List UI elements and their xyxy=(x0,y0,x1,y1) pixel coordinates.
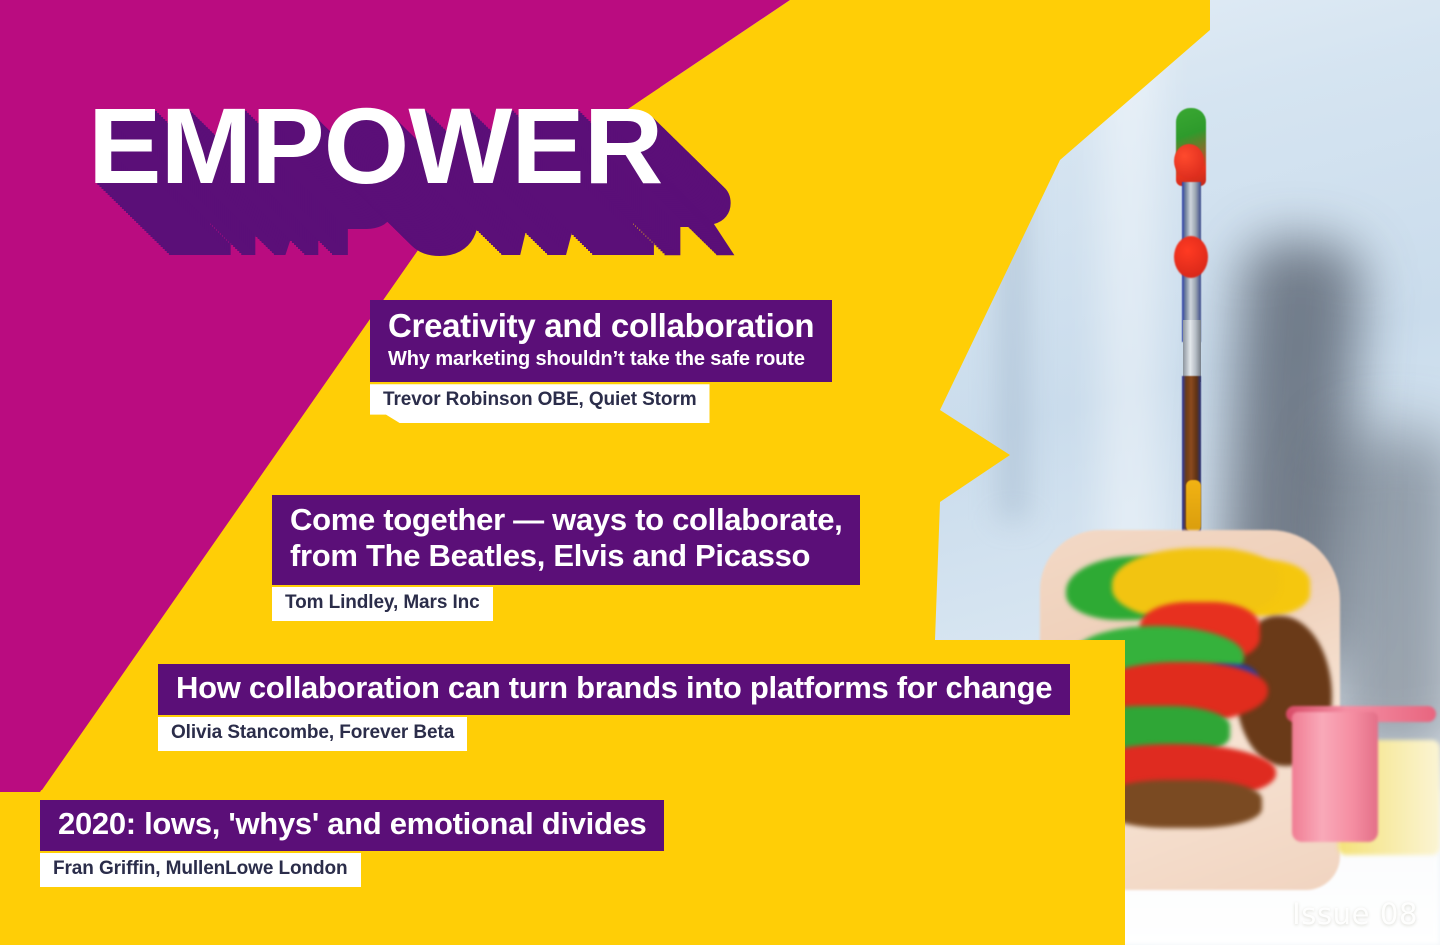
masthead: EMPOWER xyxy=(88,92,651,200)
article-block-2[interactable]: Come together — ways to collaborate, fro… xyxy=(272,495,860,621)
article-4-title: 2020: lows, 'whys' and emotional divides xyxy=(58,806,646,842)
article-3-headline-bar: How collaboration can turn brands into p… xyxy=(158,664,1070,715)
article-block-4[interactable]: 2020: lows, 'whys' and emotional divides… xyxy=(40,800,664,887)
magazine-cover: EMPOWER Creativity and collaboration Why… xyxy=(0,0,1440,945)
article-1-headline-bar: Creativity and collaboration Why marketi… xyxy=(370,300,832,382)
paint-pot-pink xyxy=(1292,712,1378,842)
article-4-headline-bar: 2020: lows, 'whys' and emotional divides xyxy=(40,800,664,851)
article-2-title-line2: from The Beatles, Elvis and Picasso xyxy=(290,538,842,574)
article-1-title: Creativity and collaboration xyxy=(388,307,814,345)
page-title: EMPOWER xyxy=(88,92,662,200)
article-3-byline: Olivia Stancombe, Forever Beta xyxy=(158,717,467,751)
article-block-3[interactable]: How collaboration can turn brands into p… xyxy=(158,664,1070,751)
article-2-headline-bar: Come together — ways to collaborate, fro… xyxy=(272,495,860,585)
issue-number: Issue 08 xyxy=(1292,897,1418,931)
paint-brush-upright-icon xyxy=(1168,108,1214,578)
article-block-1[interactable]: Creativity and collaboration Why marketi… xyxy=(370,300,832,423)
article-4-byline: Fran Griffin, MullenLowe London xyxy=(40,853,361,887)
article-2-byline: Tom Lindley, Mars Inc xyxy=(272,587,493,621)
article-2-title-line1: Come together — ways to collaborate, xyxy=(290,502,842,538)
article-1-subtitle: Why marketing shouldn’t take the safe ro… xyxy=(388,347,814,371)
article-1-byline: Trevor Robinson OBE, Quiet Storm xyxy=(370,384,710,423)
article-3-title: How collaboration can turn brands into p… xyxy=(176,670,1052,706)
